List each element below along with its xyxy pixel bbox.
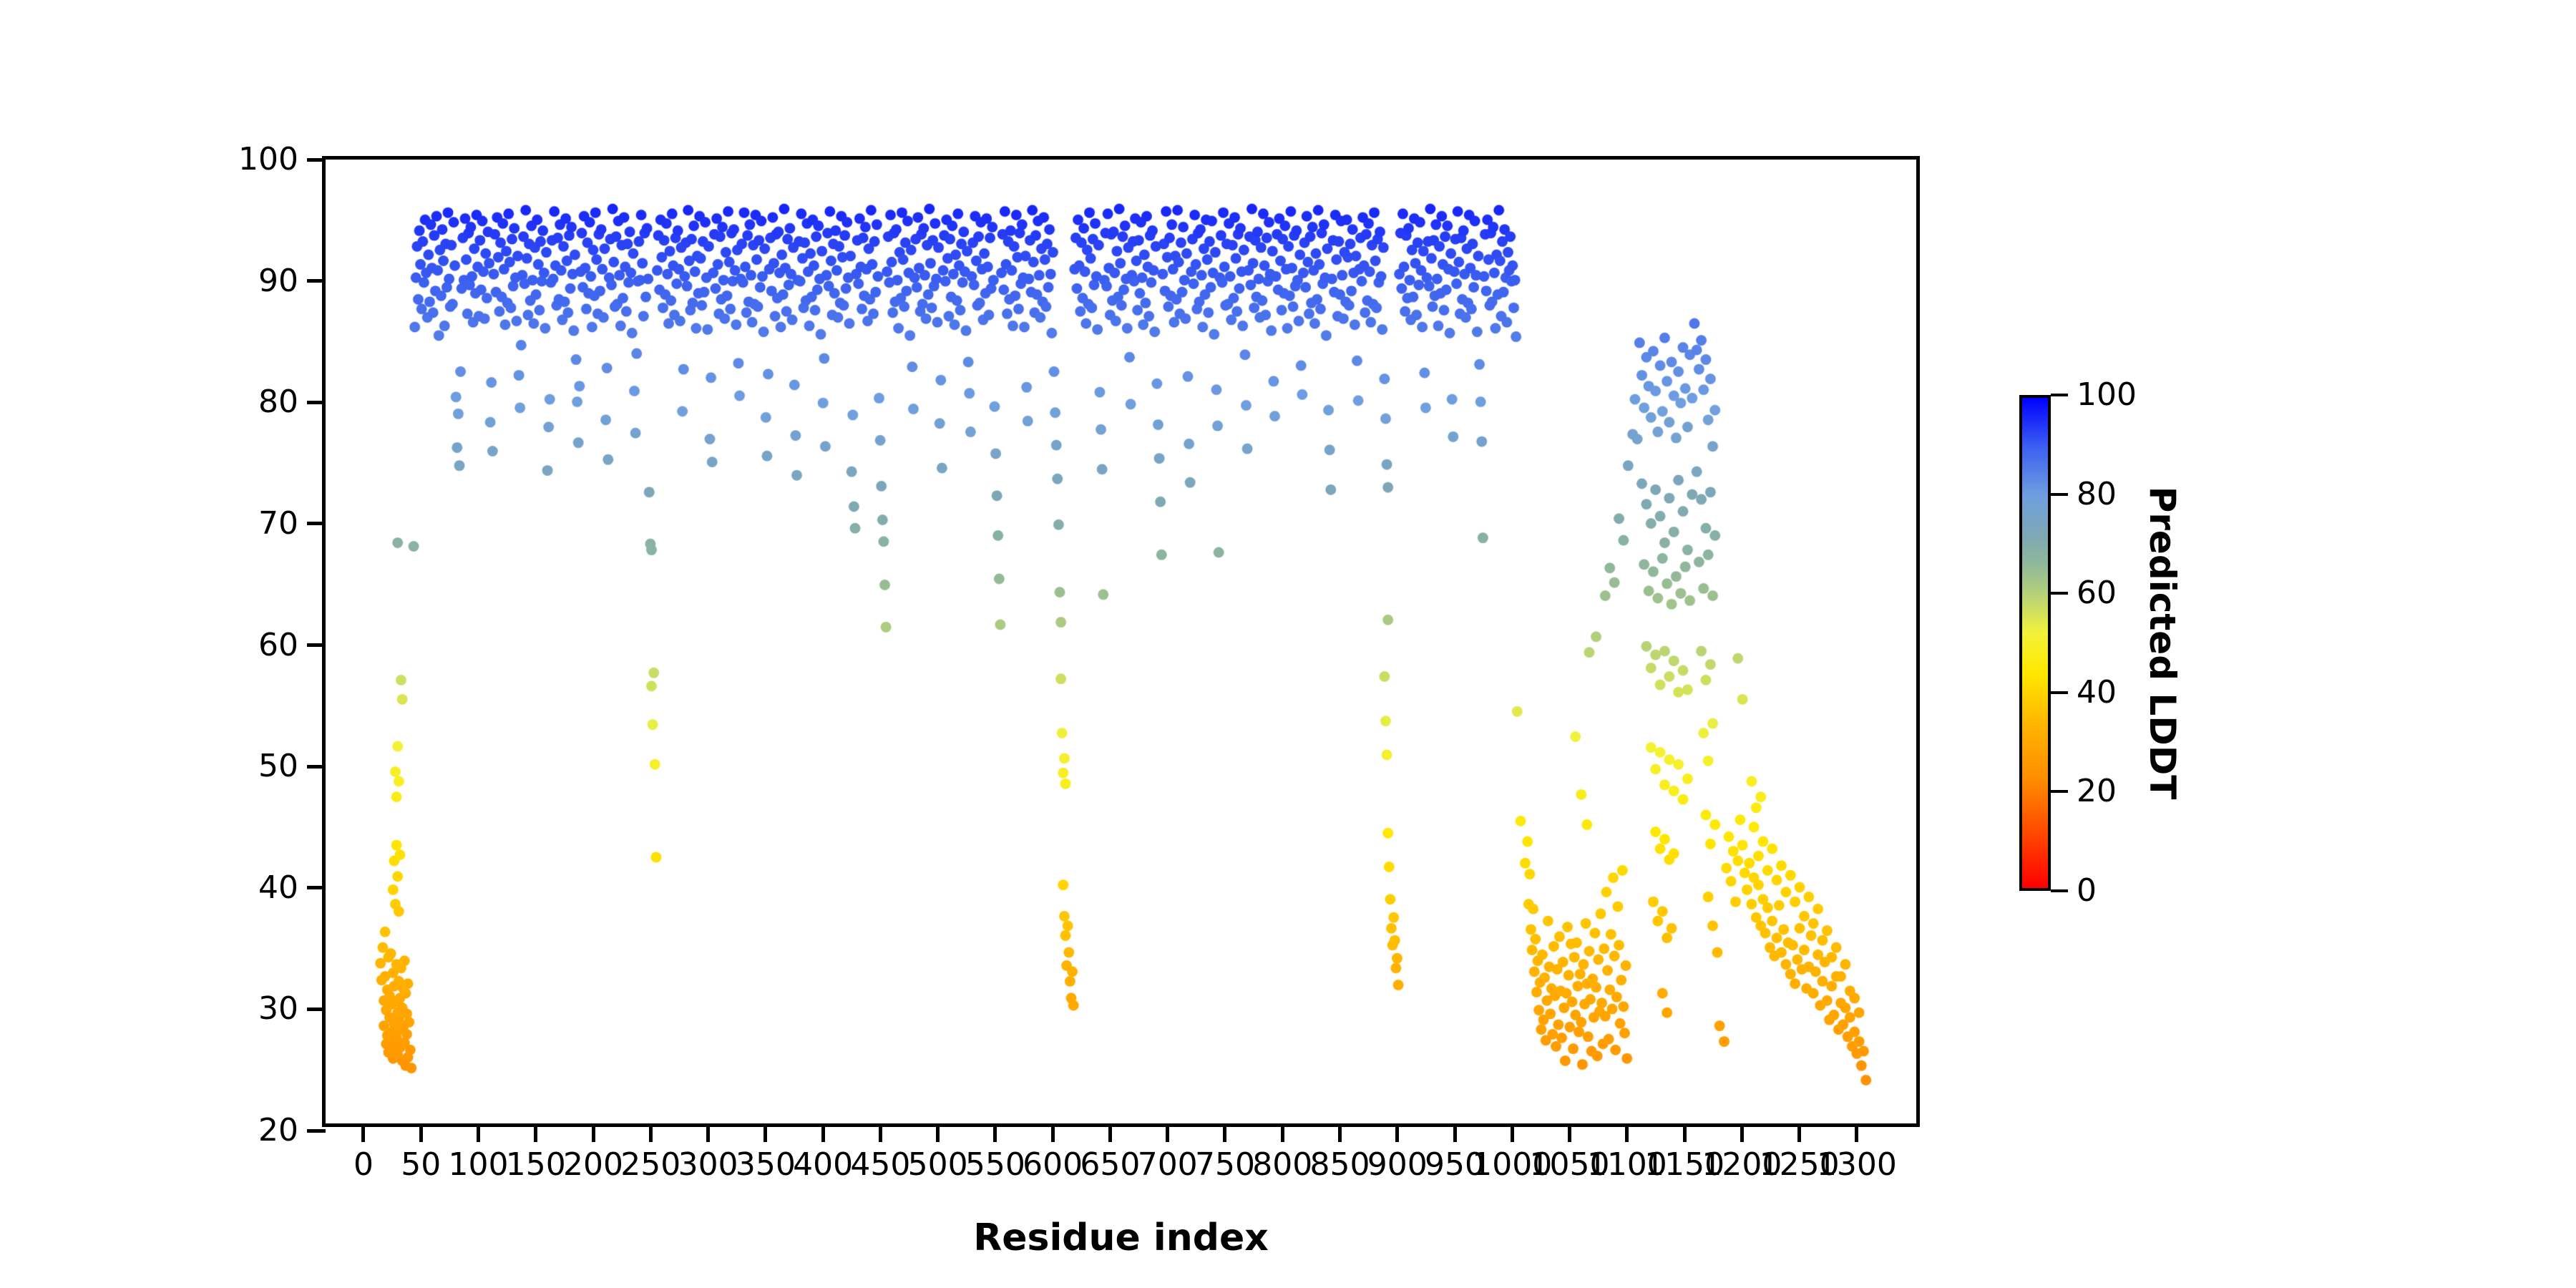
x-tick-mark — [477, 1123, 480, 1142]
x-tick-mark — [534, 1123, 537, 1142]
y-tick-mark — [307, 765, 326, 769]
x-tick-mark — [1395, 1123, 1399, 1142]
x-tick-mark — [361, 1123, 365, 1142]
x-tick-mark — [1740, 1123, 1744, 1142]
x-axis-title: Residue index — [322, 1216, 1920, 1259]
colorbar-tick-mark — [2051, 790, 2068, 793]
x-tick-label: 450 — [850, 1149, 910, 1181]
x-tick-label: 250 — [620, 1149, 680, 1181]
y-tick-label: 60 — [258, 630, 298, 661]
x-tick-mark — [419, 1123, 423, 1142]
colorbar-tick-label: 60 — [2077, 577, 2117, 609]
x-tick-mark — [649, 1123, 653, 1142]
x-tick-label: 300 — [678, 1149, 738, 1181]
y-tick-label: 90 — [258, 265, 298, 297]
y-tick-label: 20 — [258, 1115, 298, 1146]
colorbar-tick-label: 80 — [2077, 479, 2117, 510]
y-tick-mark — [307, 522, 326, 525]
x-tick-label: 850 — [1309, 1149, 1370, 1181]
colorbar-tick-label: 40 — [2077, 677, 2117, 708]
y-tick-mark — [307, 279, 326, 283]
x-tick-mark — [1051, 1123, 1055, 1142]
y-tick-mark — [307, 158, 326, 162]
colorbar-tick-mark — [2051, 493, 2068, 496]
y-tick-label: 70 — [258, 508, 298, 540]
x-tick-label: 750 — [1195, 1149, 1255, 1181]
x-tick-mark — [936, 1123, 940, 1142]
x-tick-label: 400 — [793, 1149, 853, 1181]
x-tick-mark — [1166, 1123, 1169, 1142]
y-tick-mark — [307, 401, 326, 404]
x-tick-label: 50 — [401, 1149, 441, 1181]
colorbar-tick-mark — [2051, 592, 2068, 595]
colorbar-tick-mark — [2051, 691, 2068, 694]
y-tick-label: 80 — [258, 386, 298, 418]
x-tick-mark — [1453, 1123, 1457, 1142]
x-tick-mark — [1855, 1123, 1858, 1142]
x-tick-mark — [821, 1123, 825, 1142]
y-tick-mark — [307, 1129, 326, 1133]
x-tick-mark — [1223, 1123, 1226, 1142]
x-tick-mark — [1568, 1123, 1571, 1142]
x-tick-mark — [1625, 1123, 1629, 1142]
colorbar-tick-mark — [2051, 394, 2068, 396]
x-tick-label: 550 — [965, 1149, 1025, 1181]
scatter-plot-axes: 2030405060708090100 05010015020025030035… — [322, 156, 1920, 1127]
x-tick-label: 0 — [353, 1149, 374, 1181]
y-tick-label: 40 — [258, 872, 298, 904]
colorbar-title: Predicted LDDT — [2142, 395, 2182, 891]
x-tick-label: 100 — [449, 1149, 509, 1181]
x-tick-mark — [1797, 1123, 1801, 1142]
x-tick-label: 800 — [1252, 1149, 1312, 1181]
y-tick-label: 100 — [238, 144, 298, 175]
colorbar-gradient — [2019, 395, 2051, 891]
y-tick-mark — [307, 886, 326, 889]
x-tick-label: 1300 — [1817, 1149, 1897, 1181]
colorbar-tick-label: 100 — [2077, 379, 2137, 411]
x-tick-label: 700 — [1138, 1149, 1198, 1181]
x-tick-mark — [1683, 1123, 1687, 1142]
colorbar-tick-mark — [2051, 889, 2068, 892]
x-tick-label: 350 — [736, 1149, 796, 1181]
x-tick-label: 500 — [908, 1149, 968, 1181]
y-tick-label: 50 — [258, 751, 298, 782]
colorbar-tick-label: 0 — [2077, 875, 2097, 907]
x-tick-mark — [1108, 1123, 1112, 1142]
y-tick-mark — [307, 1008, 326, 1011]
figure-canvas: 2030405060708090100 05010015020025030035… — [0, 0, 2576, 1288]
colorbar-tick-label: 20 — [2077, 776, 2117, 807]
x-tick-label: 600 — [1023, 1149, 1083, 1181]
x-tick-label: 900 — [1367, 1149, 1428, 1181]
colorbar: 020406080100 — [2019, 395, 2051, 891]
y-tick-mark — [307, 643, 326, 647]
x-tick-label: 150 — [506, 1149, 566, 1181]
x-tick-label: 200 — [563, 1149, 623, 1181]
x-tick-label: 650 — [1080, 1149, 1140, 1181]
x-tick-mark — [706, 1123, 710, 1142]
x-tick-mark — [763, 1123, 767, 1142]
x-tick-mark — [993, 1123, 997, 1142]
x-tick-mark — [1511, 1123, 1514, 1142]
x-tick-mark — [1281, 1123, 1284, 1142]
scatter-points-layer — [326, 160, 1916, 1123]
y-tick-label: 30 — [258, 993, 298, 1025]
x-tick-mark — [1338, 1123, 1342, 1142]
x-tick-mark — [592, 1123, 595, 1142]
x-tick-mark — [879, 1123, 882, 1142]
